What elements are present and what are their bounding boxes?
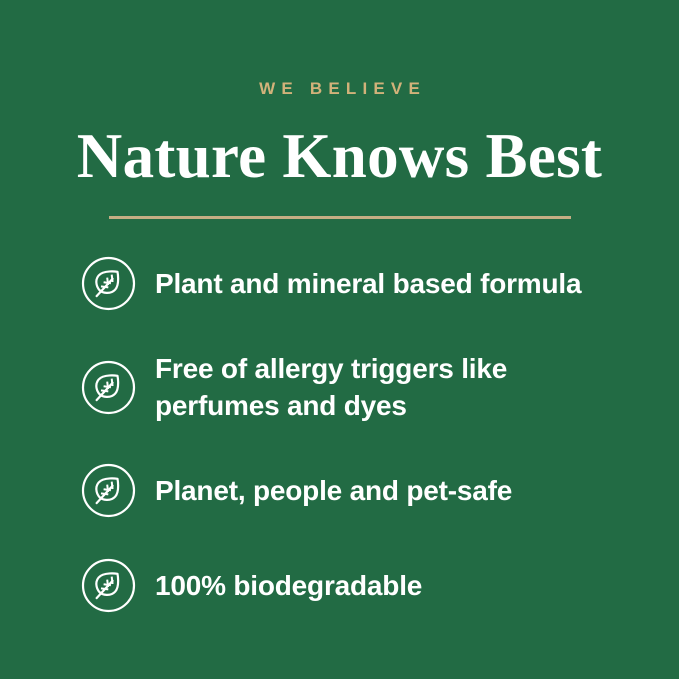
leaf-circle-icon xyxy=(80,255,137,312)
list-item: Planet, people and pet-safe xyxy=(80,462,639,519)
benefit-text: Planet, people and pet-safe xyxy=(137,472,512,509)
header-block: WE BELIEVE Nature Knows Best xyxy=(0,0,679,219)
list-item: Plant and mineral based formula xyxy=(80,255,639,312)
leaf-circle-icon xyxy=(80,359,137,416)
benefit-text: Plant and mineral based formula xyxy=(137,265,581,302)
benefit-line: perfumes and dyes xyxy=(155,387,507,424)
benefit-line: Planet, people and pet-safe xyxy=(155,472,512,509)
list-item: Free of allergy triggers like perfumes a… xyxy=(80,350,639,424)
benefit-line: 100% biodegradable xyxy=(155,567,422,604)
divider-rule xyxy=(109,216,571,219)
list-item: 100% biodegradable xyxy=(80,557,639,614)
benefit-text: Free of allergy triggers like perfumes a… xyxy=(137,350,507,424)
benefits-list: Plant and mineral based formula Free of … xyxy=(80,255,639,614)
leaf-circle-icon xyxy=(80,557,137,614)
benefit-text: 100% biodegradable xyxy=(137,567,422,604)
benefit-line: Free of allergy triggers like xyxy=(155,350,507,387)
nature-knows-best-panel: WE BELIEVE Nature Knows Best Plant and m… xyxy=(0,0,679,679)
eyebrow-label: WE BELIEVE xyxy=(0,0,679,97)
benefit-line: Plant and mineral based formula xyxy=(155,265,581,302)
page-title: Nature Knows Best xyxy=(0,97,679,190)
leaf-circle-icon xyxy=(80,462,137,519)
